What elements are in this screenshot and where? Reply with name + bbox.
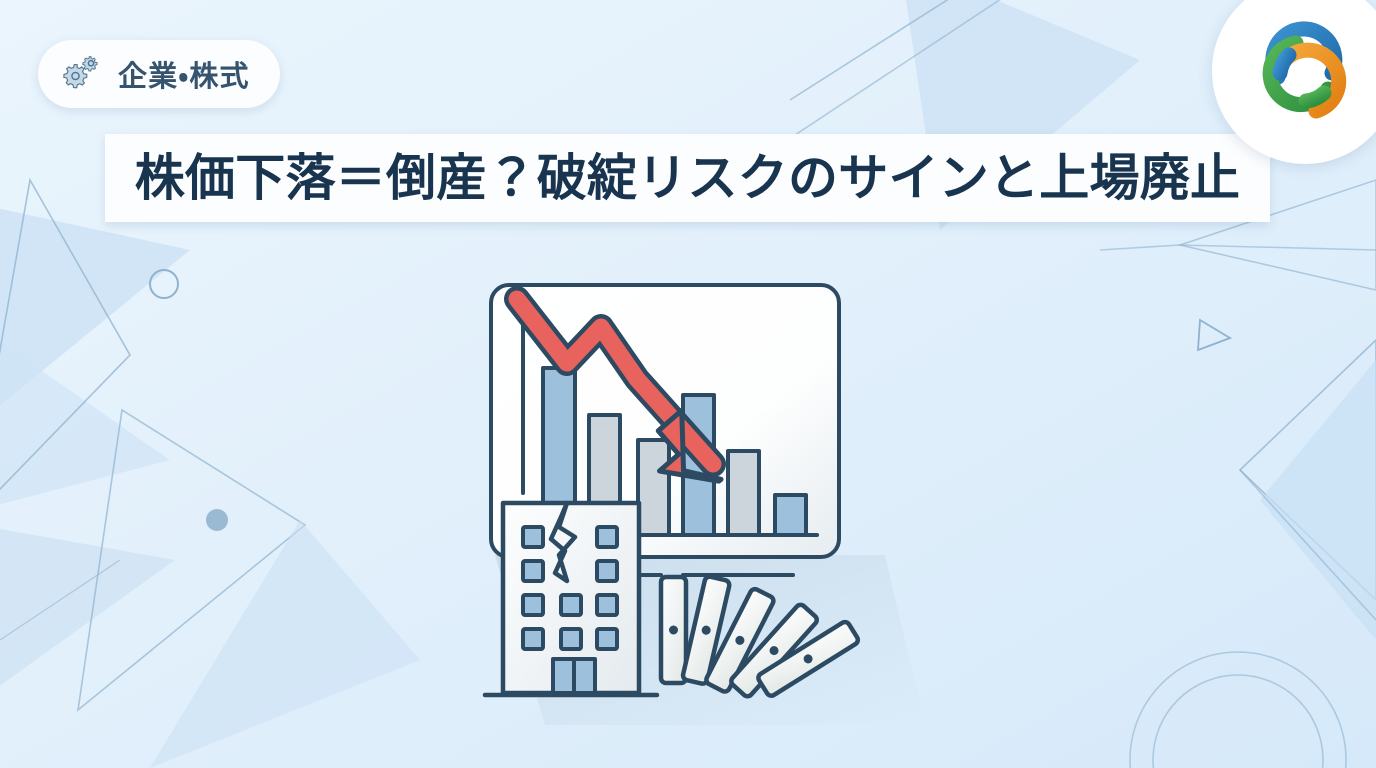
title-band: 株価下落＝倒産？破綻リスクのサインと上場廃止 <box>105 134 1270 222</box>
triangle-filled-left <box>0 200 190 430</box>
trefoil-rings-logo <box>1246 15 1364 127</box>
domino-1 <box>661 577 686 683</box>
concentric-circle-outer <box>1130 652 1346 768</box>
bar-5 <box>728 451 759 535</box>
line-bottom-left <box>0 560 120 640</box>
logo-ring-green-over <box>1306 93 1324 101</box>
line-right-top <box>1100 245 1376 250</box>
diagonal-line-top <box>790 0 1010 100</box>
concentric-circle-inner <box>1153 675 1323 768</box>
diamond-filled-right <box>1260 360 1376 640</box>
stock-crash-bankruptcy-illustration <box>455 255 925 725</box>
bar-6 <box>775 495 806 535</box>
line-right-diagonal <box>1240 470 1376 620</box>
category-badge[interactable]: 企業・株式 <box>38 40 280 108</box>
diagonal-line-top-2 <box>795 0 1060 135</box>
small-triangle-outline-right <box>1198 320 1230 350</box>
gears-icon <box>60 53 106 95</box>
triangle-filled-bottom-left-2 <box>150 520 420 768</box>
category-badge-label: 企業・株式 <box>118 53 250 95</box>
circle-outline-small <box>150 270 178 298</box>
triangle-filled-bottom-left <box>0 520 175 700</box>
bar-3 <box>638 440 669 535</box>
banner-canvas: 企業・株式 株価下落＝倒産？破綻リスクのサインと上場廃止 <box>0 0 1376 768</box>
logo-ring-blue-over <box>1280 55 1289 73</box>
triangle-outline-bottom-left <box>78 410 305 710</box>
triangle-filled-left-2 <box>0 300 170 520</box>
page-title: 株価下落＝倒産？破綻リスクのサインと上場廃止 <box>135 153 1241 203</box>
cracked-building <box>485 503 657 695</box>
triangle-outline-left <box>0 180 130 520</box>
dot-filled <box>206 509 228 531</box>
diamond-outline-right <box>1240 340 1376 600</box>
